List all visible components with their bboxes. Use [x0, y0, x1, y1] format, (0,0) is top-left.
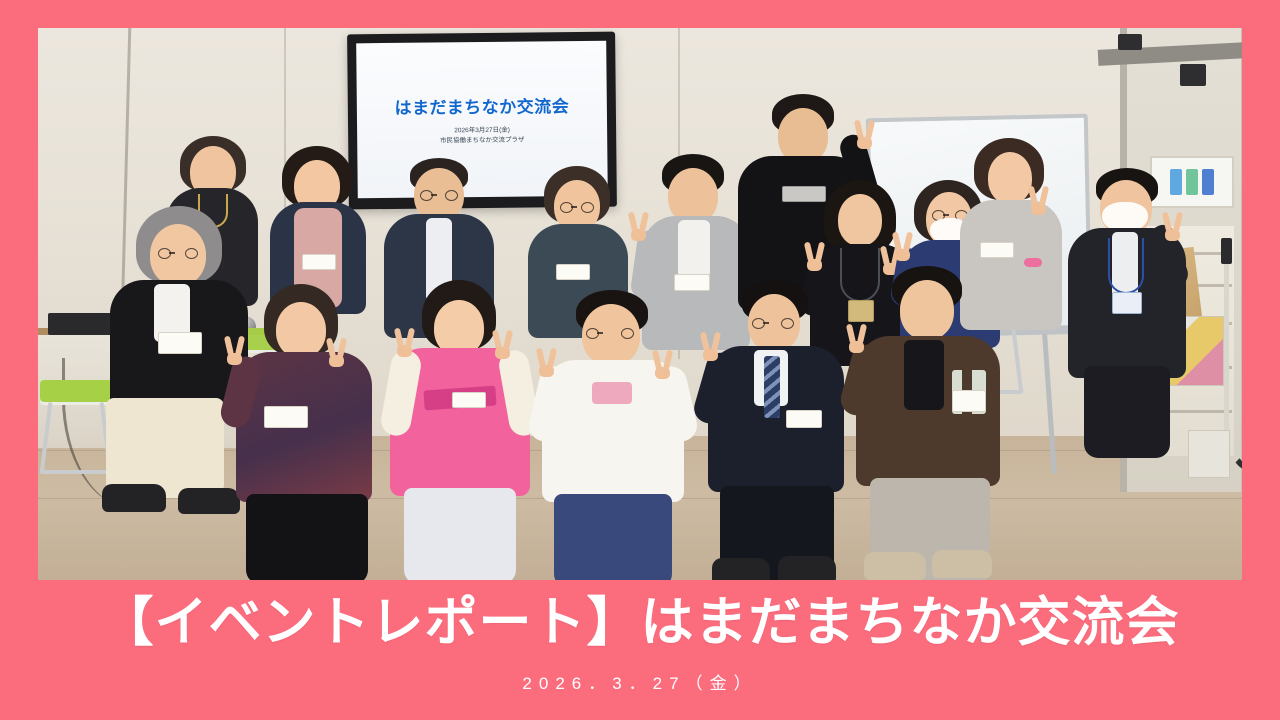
- ceiling-speaker-icon: [1118, 34, 1142, 50]
- participant-front-2: [390, 280, 530, 580]
- event-title: 【イベントレポート】はまだまちなか交流会: [101, 596, 1180, 649]
- participant-back-10: [1068, 168, 1186, 458]
- participant-front-3: [542, 290, 684, 580]
- participant-front-4: [708, 280, 844, 580]
- green-chair: [40, 380, 112, 474]
- event-date: 2026．3．27（金）: [522, 669, 757, 694]
- participant-front-5: [856, 266, 1000, 580]
- slide-line-2: 市民協働まちなか交流プラザ: [440, 137, 525, 145]
- pole-tip: [1221, 238, 1232, 264]
- participant-front-1: [236, 284, 372, 580]
- event-group-photo: はまだまちなか交流会 2026年3月27日(金) 市民協働まちなか交流プラザ: [38, 28, 1242, 580]
- slide-line-1: 2026年3月27日(金): [454, 127, 510, 135]
- slide-subtitle: 2026年3月27日(金) 市民協働まちなか交流プラザ: [440, 125, 525, 146]
- ceiling-speaker-icon: [1180, 64, 1206, 86]
- slide-title: はまだまちなか交流会: [394, 92, 569, 119]
- event-report-banner: はまだまちなか交流会 2026年3月27日(金) 市民協働まちなか交流プラザ: [0, 0, 1280, 720]
- banner-caption: 【イベントレポート】はまだまちなか交流会 2026．3．27（金）: [0, 580, 1280, 720]
- storage-bin: [1188, 430, 1230, 478]
